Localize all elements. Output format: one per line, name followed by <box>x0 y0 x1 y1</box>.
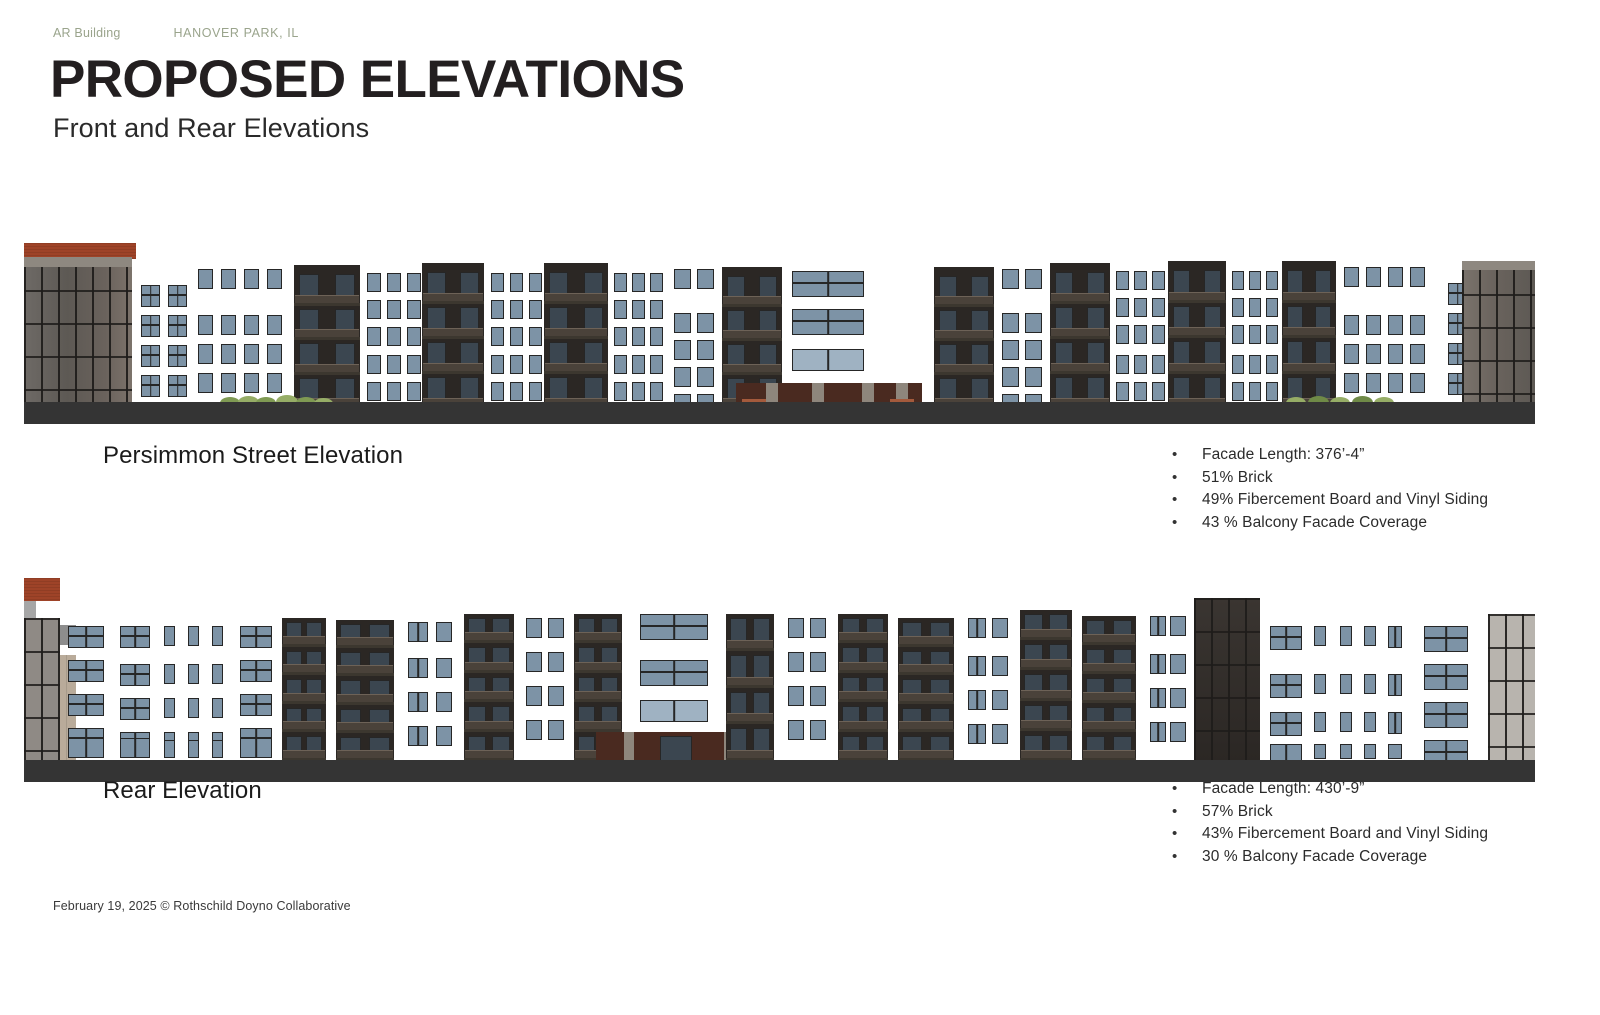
balcony-slab <box>722 372 782 375</box>
balcony-slab <box>1020 698 1072 701</box>
balcony-railing <box>545 363 607 371</box>
brick-window <box>1388 744 1402 759</box>
tower-window <box>240 660 272 682</box>
balcony-railing <box>723 296 781 304</box>
tower-window <box>244 315 259 335</box>
balcony-railing <box>1083 750 1135 758</box>
stair-end-wing-right <box>1488 614 1535 761</box>
balcony-railing <box>899 636 953 644</box>
balcony-railing <box>575 691 621 699</box>
balcony-railing <box>727 640 773 648</box>
brick-window <box>650 382 663 401</box>
balcony-slab <box>722 338 782 341</box>
balcony-railing <box>337 665 393 673</box>
tower-window <box>1025 340 1042 360</box>
balcony-slab <box>1082 671 1136 674</box>
brick-window <box>992 724 1008 744</box>
tower-window <box>68 694 104 716</box>
brick-window <box>1232 355 1244 374</box>
balcony-slab <box>838 670 888 673</box>
tower-window <box>526 686 542 706</box>
tower-window <box>168 315 187 337</box>
page-subtitle: Front and Rear Elevations <box>53 113 369 144</box>
balcony-slab <box>934 372 994 375</box>
balcony-railing <box>727 713 773 721</box>
brick-window <box>1270 744 1302 761</box>
tower-window <box>221 269 236 289</box>
spec-label: Facade Length: 430’-9” <box>1202 778 1364 801</box>
tower-window <box>198 344 213 364</box>
siding-window <box>491 327 504 346</box>
balcony-railing <box>295 329 359 337</box>
footer-credit: February 19, 2025 © Rothschild Doyno Col… <box>53 899 351 913</box>
center-window-mid <box>792 309 864 335</box>
balcony-slab <box>1082 700 1136 703</box>
tower-window <box>1388 373 1403 393</box>
tower-window <box>1344 344 1359 364</box>
center-window-upper <box>640 614 708 640</box>
tower-window <box>788 686 804 706</box>
balcony-slab <box>464 640 514 643</box>
siding-window <box>529 300 542 319</box>
tower-window <box>244 344 259 364</box>
brick-window <box>1270 712 1302 736</box>
brick-window <box>408 692 428 712</box>
brick-window <box>1116 355 1129 374</box>
spec-row: •51% Brick <box>1172 467 1488 490</box>
brick-window <box>1170 688 1186 708</box>
balcony-railing <box>1169 327 1225 335</box>
siding-window <box>1266 325 1278 344</box>
tower-window <box>221 373 236 393</box>
siding-window <box>1150 616 1166 636</box>
tower-window <box>788 618 804 638</box>
balcony-railing <box>1083 721 1135 729</box>
balcony-railing <box>575 662 621 670</box>
siding-window <box>1232 325 1244 344</box>
brick-window <box>1364 744 1376 759</box>
tower-window <box>244 373 259 393</box>
brick-window <box>407 382 421 401</box>
balcony-railing <box>283 664 325 672</box>
tower-window <box>548 720 564 740</box>
brick-window <box>240 738 272 758</box>
page-title: PROPOSED ELEVATIONS <box>50 51 685 108</box>
balcony-slab <box>282 672 326 675</box>
tower-window <box>1424 626 1468 652</box>
balcony-railing <box>575 721 621 729</box>
rear-elevation-caption: Rear Elevation <box>103 777 262 805</box>
spec-label: Facade Length: 376’-4” <box>1202 444 1364 467</box>
brick-window <box>1340 712 1352 732</box>
tower-window <box>141 285 160 307</box>
bullet-icon: • <box>1172 801 1202 824</box>
balcony-slab <box>282 729 326 732</box>
tower-window <box>810 720 826 740</box>
brick-window <box>408 726 428 746</box>
slide-page: AR Building HANOVER PARK, IL PROPOSED EL… <box>0 0 1600 1015</box>
brick-window <box>1266 382 1278 401</box>
spec-label: 43 % Balcony Facade Coverage <box>1202 512 1427 535</box>
balcony-railing <box>283 750 325 758</box>
balcony-railing <box>465 691 513 699</box>
balcony-slab <box>898 672 954 675</box>
balcony-railing <box>899 693 953 701</box>
balcony-slab <box>464 729 514 732</box>
brick-window <box>510 382 523 401</box>
balcony-slab <box>1020 667 1072 670</box>
tower-window <box>141 345 160 367</box>
project-location: HANOVER PARK, IL <box>174 26 299 40</box>
balcony-railing <box>839 750 887 758</box>
siding-window <box>1232 271 1244 290</box>
tower-window <box>244 269 259 289</box>
brick-window <box>408 658 428 678</box>
balcony-slab <box>574 670 622 673</box>
end-wing-coping <box>1462 261 1535 270</box>
tower-window <box>267 344 282 364</box>
balcony-railing <box>1021 750 1071 758</box>
tower-window <box>526 618 542 638</box>
brick-window <box>1150 654 1166 674</box>
brick-window <box>632 382 645 401</box>
siding-window <box>992 618 1008 638</box>
brick-window <box>1249 355 1261 374</box>
siding-window <box>1388 626 1402 648</box>
stair-frame-grid <box>1194 598 1260 761</box>
brick-window <box>120 738 150 758</box>
brick-window <box>968 690 986 710</box>
siding-window <box>1266 298 1278 317</box>
brick-window <box>407 355 421 374</box>
balcony-railing <box>283 636 325 644</box>
tower-window <box>1388 344 1403 364</box>
rooftop-vent <box>24 601 36 613</box>
siding-window <box>1134 271 1147 290</box>
balcony-railing <box>283 693 325 701</box>
balcony-railing <box>545 328 607 336</box>
balcony-railing <box>337 750 393 758</box>
bullet-icon: • <box>1172 846 1202 869</box>
header-kicker-row: AR Building HANOVER PARK, IL <box>53 26 299 40</box>
siding-window <box>510 327 523 346</box>
center-window-lower <box>792 349 864 371</box>
balcony-railing <box>465 662 513 670</box>
tower-window <box>141 375 160 397</box>
stair-end-wing-left <box>24 618 60 761</box>
balcony-railing <box>465 632 513 640</box>
tower-window <box>267 373 282 393</box>
balcony-slab <box>934 304 994 307</box>
tower-window <box>1025 367 1042 387</box>
spec-row: •43 % Balcony Facade Coverage <box>1172 512 1488 535</box>
bullet-icon: • <box>1172 467 1202 490</box>
siding-window <box>1116 271 1129 290</box>
balcony-slab <box>1050 371 1110 374</box>
front-ground-band <box>24 402 1535 424</box>
tower-window <box>1344 267 1359 287</box>
tower-window <box>697 367 714 387</box>
tower-window <box>221 315 236 335</box>
siding-window <box>632 273 645 292</box>
tower-window <box>1366 373 1381 393</box>
tower-window <box>240 626 272 648</box>
spec-row: •Facade Length: 430’-9” <box>1172 778 1488 801</box>
brick-window <box>1249 382 1261 401</box>
spec-label: 30 % Balcony Facade Coverage <box>1202 846 1427 869</box>
brick-window <box>188 664 199 684</box>
siding-window <box>407 327 421 346</box>
center-window-upper <box>792 271 864 297</box>
tower-window <box>1002 313 1019 333</box>
siding-window <box>1249 298 1261 317</box>
brick-window <box>1340 744 1352 759</box>
spec-row: •Facade Length: 376’-4” <box>1172 444 1488 467</box>
siding-window <box>1249 271 1261 290</box>
balcony-railing <box>723 330 781 338</box>
tower-window <box>1424 702 1468 728</box>
siding-window <box>1152 325 1165 344</box>
tower-window <box>548 652 564 672</box>
balcony-slab <box>898 644 954 647</box>
end-wing-coping <box>24 257 132 267</box>
brick-window <box>529 382 542 401</box>
balcony-slab <box>838 640 888 643</box>
balcony-slab <box>838 699 888 702</box>
spec-row: •49% Fibercement Board and Vinyl Siding <box>1172 489 1488 512</box>
tower-window <box>1388 267 1403 287</box>
brick-window <box>120 698 150 720</box>
stair-wing-frame <box>1488 614 1535 761</box>
balcony-railing <box>465 721 513 729</box>
balcony-slab <box>722 304 782 307</box>
brick-window <box>650 355 663 374</box>
balcony-railing <box>1021 629 1071 637</box>
brick-window <box>1314 744 1326 759</box>
balcony-slab <box>1168 371 1226 374</box>
siding-window <box>510 300 523 319</box>
siding-window <box>614 300 627 319</box>
balcony-railing <box>935 364 993 372</box>
siding-window <box>387 300 401 319</box>
balcony-slab <box>282 644 326 647</box>
brick-window <box>1388 712 1402 734</box>
balcony-slab <box>1168 300 1226 303</box>
siding-window <box>650 300 663 319</box>
brick-window <box>367 355 381 374</box>
balcony-slab <box>1282 300 1336 303</box>
tower-window <box>810 652 826 672</box>
balcony-railing <box>1083 634 1135 642</box>
balcony-slab <box>1282 371 1336 374</box>
stair-wing-frame <box>24 618 60 761</box>
stair-tower-frame <box>1194 598 1260 761</box>
tower-window <box>1002 340 1019 360</box>
balcony-slab <box>294 337 360 340</box>
siding-window <box>164 626 175 646</box>
siding-window <box>407 300 421 319</box>
siding-window <box>1152 298 1165 317</box>
siding-window <box>650 327 663 346</box>
siding-window <box>367 327 381 346</box>
brick-window <box>1152 382 1165 401</box>
spec-row: •30 % Balcony Facade Coverage <box>1172 846 1488 869</box>
siding-window <box>1152 271 1165 290</box>
siding-window <box>650 273 663 292</box>
balcony-slab <box>726 685 774 688</box>
balcony-railing <box>423 363 483 371</box>
tower-window <box>267 269 282 289</box>
balcony-slab <box>726 721 774 724</box>
brick-window <box>1134 382 1147 401</box>
brick-window <box>1116 382 1129 401</box>
front-elevation-caption: Persimmon Street Elevation <box>103 442 403 470</box>
balcony-slab <box>1282 335 1336 338</box>
balcony-railing <box>1283 292 1335 300</box>
balcony-railing <box>1283 327 1335 335</box>
brick-window <box>212 698 223 718</box>
tower-window <box>788 720 804 740</box>
tower-window <box>68 626 104 648</box>
brick-window <box>1314 712 1326 732</box>
balcony-railing <box>1021 720 1071 728</box>
tower-window <box>221 344 236 364</box>
tower-window <box>674 340 691 360</box>
tower-window <box>1002 269 1019 289</box>
balcony-slab <box>336 730 394 733</box>
balcony-railing <box>1083 692 1135 700</box>
spec-row: •43% Fibercement Board and Vinyl Siding <box>1172 823 1488 846</box>
balcony-railing <box>727 750 773 758</box>
brick-window <box>367 382 381 401</box>
brick-window <box>436 658 452 678</box>
tower-window <box>1424 664 1468 690</box>
siding-window <box>367 300 381 319</box>
brick-window <box>164 664 175 684</box>
tower-window <box>697 340 714 360</box>
balcony-railing <box>899 664 953 672</box>
brick-window <box>491 382 504 401</box>
tower-window <box>168 345 187 367</box>
end-wing-left <box>24 257 132 409</box>
siding-window <box>510 273 523 292</box>
siding-window <box>614 327 627 346</box>
balcony-railing <box>839 632 887 640</box>
rear-elevation-rendering <box>24 578 1535 761</box>
balcony-slab <box>838 729 888 732</box>
balcony-slab <box>336 702 394 705</box>
balcony-slab <box>422 371 484 374</box>
balcony-slab <box>726 648 774 651</box>
brick-window <box>614 382 627 401</box>
tower-window <box>788 652 804 672</box>
front-elevation-specs: •Facade Length: 376’-4”•51% Brick•49% Fi… <box>1172 444 1488 534</box>
tower-window <box>810 686 826 706</box>
balcony-slab <box>1020 637 1072 640</box>
balcony-railing <box>1021 659 1071 667</box>
siding-window <box>1270 626 1302 650</box>
siding-window <box>120 626 150 648</box>
siding-window <box>408 622 428 642</box>
brick-window <box>436 726 452 746</box>
spec-label: 51% Brick <box>1202 467 1273 490</box>
spec-label: 57% Brick <box>1202 801 1273 824</box>
siding-window <box>212 626 223 646</box>
balcony-railing <box>465 750 513 758</box>
balcony-slab <box>336 645 394 648</box>
tower-window <box>548 618 564 638</box>
tower-window <box>1410 344 1425 364</box>
tower-window <box>810 618 826 638</box>
entry-door <box>660 736 692 761</box>
brick-window <box>1232 382 1244 401</box>
balcony-railing <box>423 328 483 336</box>
spec-row: •57% Brick <box>1172 801 1488 824</box>
brick-window <box>491 355 504 374</box>
balcony-railing <box>1083 663 1135 671</box>
balcony-railing <box>337 694 393 702</box>
balcony-railing <box>935 296 993 304</box>
balcony-slab <box>898 729 954 732</box>
tower-window <box>141 315 160 337</box>
brick-window <box>1266 355 1278 374</box>
siding-window <box>1232 298 1244 317</box>
balcony-railing <box>1169 363 1225 371</box>
brick-window <box>212 664 223 684</box>
brick-window <box>632 355 645 374</box>
balcony-slab <box>574 640 622 643</box>
brick-window <box>212 740 223 758</box>
balcony-slab <box>898 701 954 704</box>
center-window-lower <box>640 700 708 722</box>
siding-window <box>1134 325 1147 344</box>
spec-label: 49% Fibercement Board and Vinyl Siding <box>1202 489 1488 512</box>
balcony-slab <box>294 303 360 306</box>
balcony-slab <box>1082 642 1136 645</box>
tower-window <box>1366 267 1381 287</box>
brick-window <box>1152 355 1165 374</box>
tower-window <box>1366 315 1381 335</box>
balcony-slab <box>1168 335 1226 338</box>
brick-window <box>1170 722 1186 742</box>
spec-label: 43% Fibercement Board and Vinyl Siding <box>1202 823 1488 846</box>
tower-window <box>697 313 714 333</box>
balcony-slab <box>294 372 360 375</box>
balcony-slab <box>422 301 484 304</box>
brick-window <box>1170 654 1186 674</box>
balcony-railing <box>723 364 781 372</box>
tower-window <box>168 285 187 307</box>
balcony-railing <box>295 364 359 372</box>
siding-window <box>407 273 421 292</box>
tower-window <box>240 694 272 716</box>
balcony-slab <box>422 336 484 339</box>
balcony-railing <box>337 722 393 730</box>
siding-window <box>387 273 401 292</box>
balcony-slab <box>464 699 514 702</box>
project-name: AR Building <box>53 26 121 40</box>
balcony-railing <box>1283 363 1335 371</box>
bullet-icon: • <box>1172 489 1202 512</box>
stair-wing-base <box>24 578 60 601</box>
center-window-mid <box>640 660 708 686</box>
balcony-railing <box>545 293 607 301</box>
brick-window <box>510 355 523 374</box>
balcony-railing <box>1051 293 1109 301</box>
tower-window <box>674 367 691 387</box>
siding-window <box>632 327 645 346</box>
end-wing-mullion-grid <box>24 257 132 409</box>
